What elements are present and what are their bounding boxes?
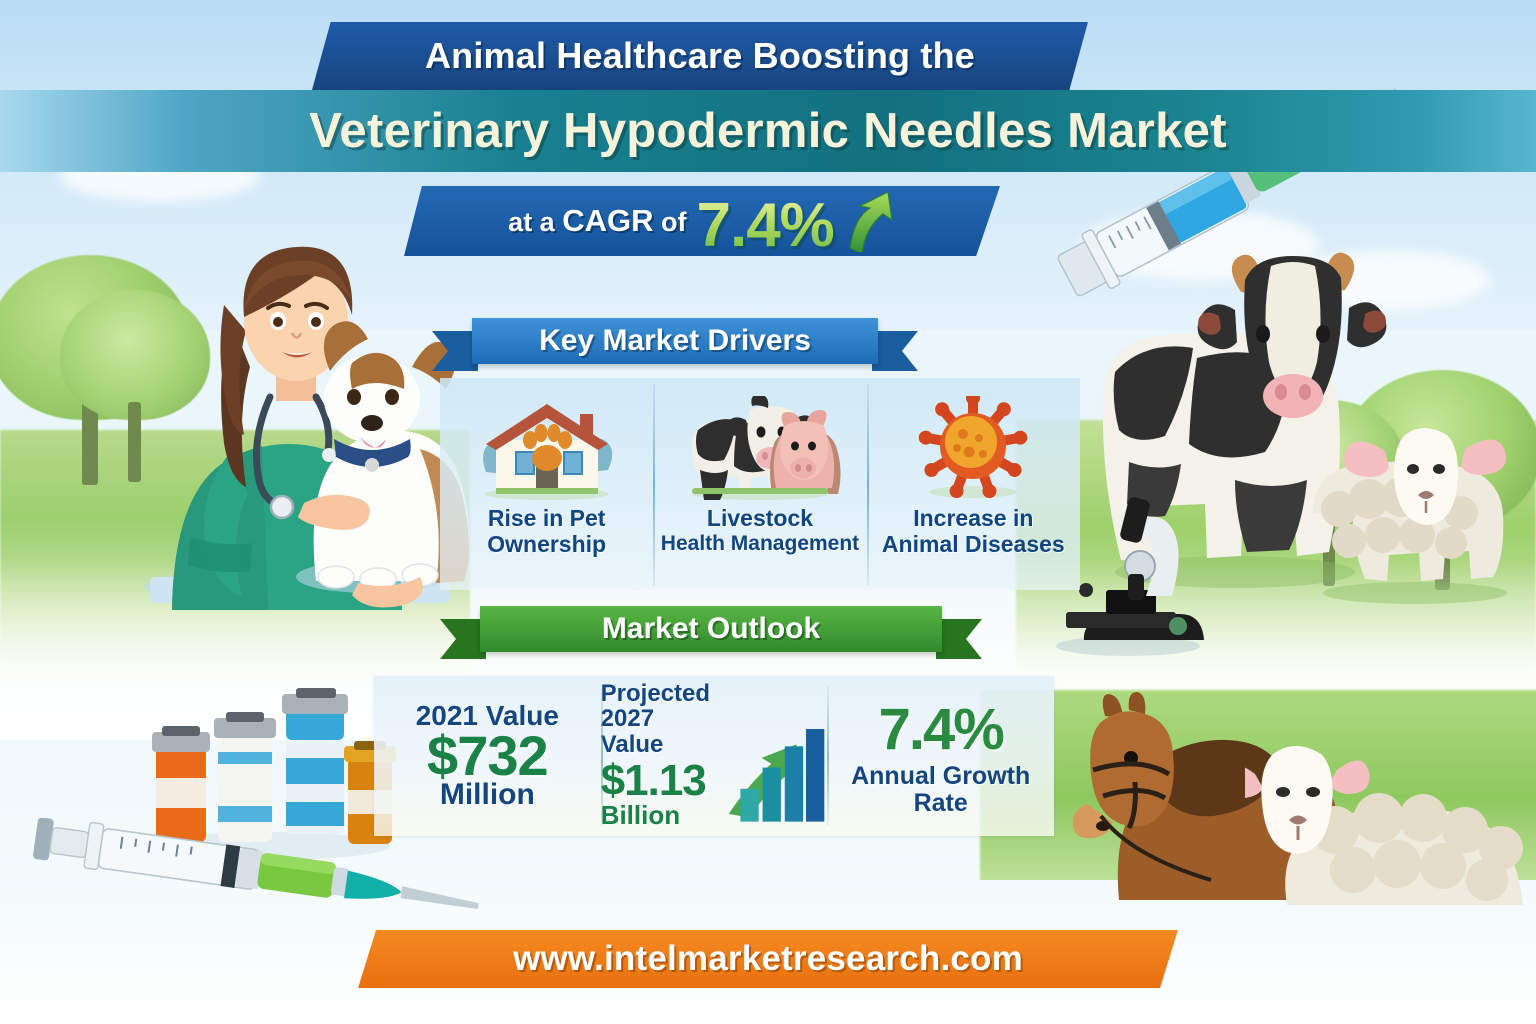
cagr-value: 7.4% (696, 190, 833, 261)
footer-url-text: www.intelmarketresearch.com (513, 939, 1023, 979)
ribbon-tail-right-icon (936, 619, 982, 659)
stat-label-line2: Rate (914, 790, 968, 816)
pet-house-paw-icon (472, 396, 622, 500)
stat-label-line1: Annual Growth (851, 763, 1030, 789)
cow-pig-livestock-icon (676, 396, 844, 500)
driver-card-pet-ownership[interactable]: Rise in Pet Ownership (440, 378, 653, 590)
title-banner-main: Veterinary Hypodermic Needles Market (0, 90, 1536, 172)
growth-bar-chart-icon (723, 686, 827, 826)
driver-label-line1: Rise in Pet (487, 506, 606, 532)
virus-icon (913, 396, 1033, 500)
outlook-banner-label: Market Outlook (602, 612, 820, 646)
key-market-drivers-panel: Rise in Pet Ownership (440, 378, 1080, 590)
stat-value: $1.13 (601, 759, 706, 802)
sheep-illustration (1305, 405, 1520, 605)
driver-label-line2: Animal Diseases (882, 532, 1065, 558)
market-outlook-stats-panel: 2021 Value $732 Million Projected 2027 V… (374, 676, 1054, 836)
driver-card-animal-diseases[interactable]: Increase in Animal Diseases (867, 378, 1080, 590)
driver-card-livestock-health[interactable]: Livestock Health Management (653, 378, 866, 590)
driver-label-line1: Increase in (882, 506, 1065, 532)
driver-label-line2: Health Management (661, 532, 859, 556)
stat-value: $732 (427, 729, 548, 784)
market-outlook-banner: Market Outlook (440, 606, 982, 652)
stat-projected-2027-value: Projected 2027 Value $1.13 Billion (601, 676, 828, 836)
title-banner-top: Animal Healthcare Boosting the (312, 22, 1088, 90)
sheep-illustration (1245, 720, 1525, 905)
driver-label-line2: Ownership (487, 532, 606, 558)
up-arrow-icon (844, 190, 896, 252)
cagr-prefix-label: at a CAGR of (508, 203, 686, 239)
driver-label-line1: Livestock (661, 506, 859, 532)
page-title-line2: Veterinary Hypodermic Needles Market (309, 103, 1227, 159)
key-market-drivers-banner: Key Market Drivers (432, 318, 918, 364)
ribbon-tail-right-icon (872, 331, 918, 371)
cagr-content: at a CAGR of 7.4% (404, 186, 1000, 256)
stat-annual-growth-rate: 7.4% Annual Growth Rate (827, 676, 1054, 836)
stat-unit: Billion (601, 800, 680, 831)
stat-2021-value: 2021 Value $732 Million (374, 676, 601, 836)
stat-label-projected: Projected (601, 681, 710, 706)
infographic-canvas: Animal Healthcare Boosting the Veterinar… (0, 0, 1536, 1024)
stat-label-bottom: Million (440, 779, 535, 811)
green-syringe-illustration (22, 818, 492, 938)
footer-url-banner[interactable]: www.intelmarketresearch.com (358, 930, 1178, 988)
drivers-banner-label: Key Market Drivers (539, 324, 811, 358)
stat-value: 7.4% (879, 696, 1003, 763)
page-title-line1: Animal Healthcare Boosting the (425, 35, 975, 77)
stat-label-year: 2027 Value (601, 706, 719, 756)
